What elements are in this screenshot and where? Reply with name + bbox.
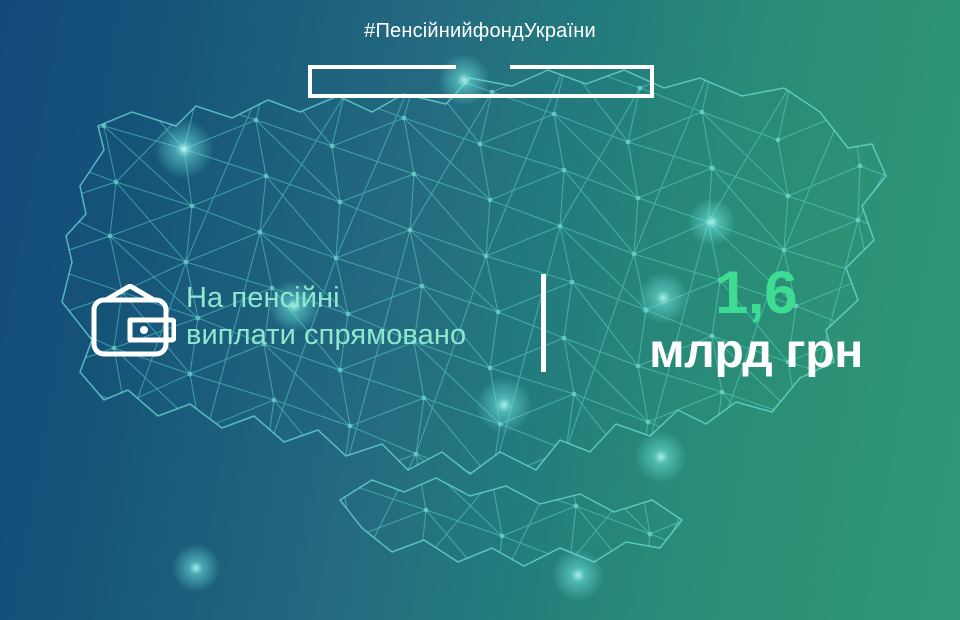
statement-caption: На пенсійні виплати спрямовано	[186, 280, 466, 354]
amount-block: 1,6 млрд грн	[596, 263, 916, 376]
caption-line-2: виплати спрямовано	[186, 317, 466, 354]
amount-value: 1,6	[596, 263, 916, 323]
wallet-icon	[84, 284, 176, 365]
hashtag-label: #ПенсійнийфондУкраїни	[0, 20, 960, 43]
amount-unit: млрд грн	[596, 328, 916, 376]
vertical-divider	[541, 274, 546, 372]
banner-outline-frame	[308, 69, 654, 98]
statement-row: На пенсійні виплати спрямовано 1,6 млрд …	[0, 268, 960, 380]
infographic-canvas: #ПенсійнийфондУкраїни На пенсійні виплат…	[0, 0, 960, 620]
caption-line-1: На пенсійні	[186, 280, 466, 317]
